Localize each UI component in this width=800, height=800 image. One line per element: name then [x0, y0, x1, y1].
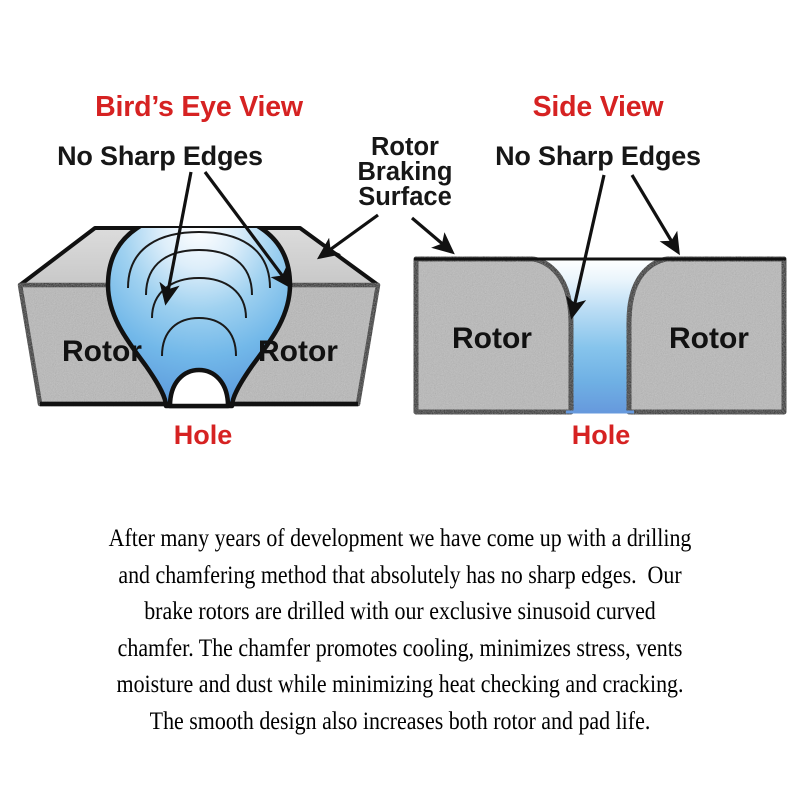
bird-eye-title: Bird’s Eye View [95, 91, 304, 123]
description-paragraph: After many years of development we have … [0, 520, 800, 739]
bird-eye-rotor-label-right: Rotor [258, 335, 338, 368]
braking-surface-arrow-right [412, 218, 452, 252]
braking-surface-label-line2: Braking [358, 158, 453, 186]
paragraph-line-2: and chamfering method that absolutely ha… [56, 557, 744, 594]
braking-surface-label-line1: Rotor [371, 133, 439, 161]
diagram-page: Bird’s Eye View No Sharp Edges Rotor Bra… [0, 0, 800, 800]
rotor-chamfer-diagram: Bird’s Eye View No Sharp Edges Rotor Bra… [0, 0, 800, 470]
bird-eye-hole-label: Hole [174, 420, 233, 450]
side-view-no-sharp-edges-label: No Sharp Edges [495, 141, 701, 171]
paragraph-line-6: The smooth design also increases both ro… [56, 703, 744, 740]
bird-eye-rotor-label-left: Rotor [62, 335, 142, 368]
braking-surface-arrow-left [320, 215, 378, 257]
side-view-title: Side View [533, 91, 665, 123]
side-view-rotor-label-right: Rotor [669, 322, 749, 355]
bird-eye-block [20, 212, 378, 406]
paragraph-line-3: brake rotors are drilled with our exclus… [56, 593, 744, 630]
bird-eye-no-sharp-edges-label: No Sharp Edges [57, 141, 263, 171]
paragraph-line-1: After many years of development we have … [56, 520, 744, 557]
side-view-rotor-label-left: Rotor [452, 322, 532, 355]
side-view-hole-label: Hole [572, 420, 631, 450]
paragraph-line-4: chamfer. The chamfer promotes cooling, m… [56, 630, 744, 667]
braking-surface-label-line3: Surface [358, 183, 452, 211]
paragraph-line-5: moisture and dust while minimizing heat … [56, 666, 744, 703]
side-view-no-sharp-edges-arrow-right [632, 175, 678, 252]
